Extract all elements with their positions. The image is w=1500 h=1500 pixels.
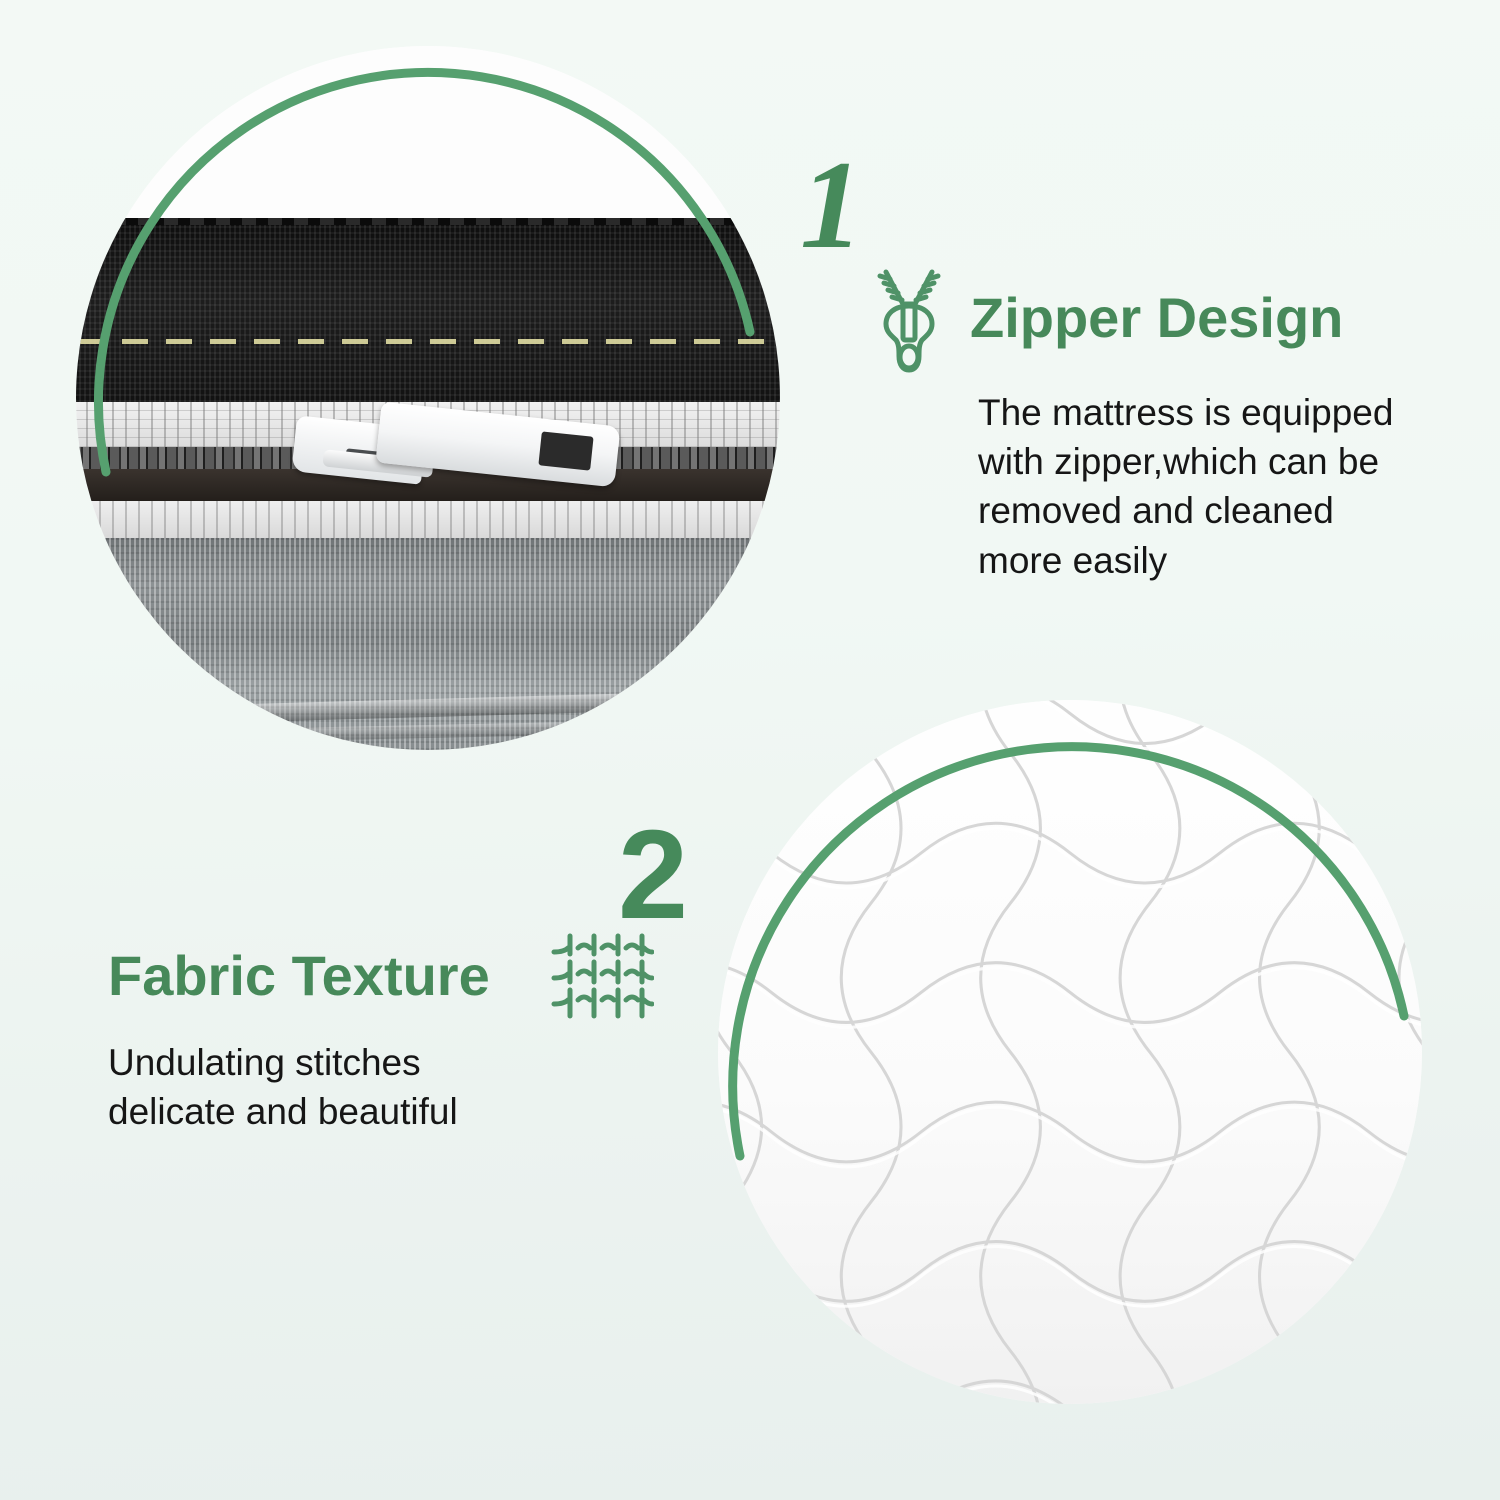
feature-1-body-line: with zipper,which can be — [978, 437, 1426, 486]
feature-number-1: 1 — [800, 143, 863, 269]
quilt-pattern — [718, 700, 1422, 1404]
woven-fabric-icon — [550, 930, 654, 1022]
zipper-slider-hole — [539, 431, 594, 470]
photo-band-zipper-tape-lower — [76, 501, 780, 538]
photo-band-white-top — [76, 46, 780, 218]
feature-1-body-line: The mattress is equipped — [978, 388, 1426, 437]
feature-2-heading-row: Fabric Texture — [108, 930, 708, 1022]
feature-2-title: Fabric Texture — [108, 946, 490, 1005]
feature-1-body-line: removed and cleaned — [978, 486, 1426, 535]
feature-block-fabric-texture: Fabric Texture — [108, 930, 708, 1136]
feature-2-body-line: Undulating stitches — [108, 1038, 708, 1087]
feature-2-body: Undulating stitches delicate and beautif… — [108, 1038, 708, 1136]
quilted-fabric-photo — [718, 700, 1422, 1404]
feature-1-body-line: more easily — [978, 536, 1426, 585]
infographic-stage: 1 2 Zipper Design The mattress is — [0, 0, 1500, 1500]
zipper-photo-bands — [76, 46, 780, 750]
photo-band-black-binding — [76, 218, 780, 401]
zipper-slider-pull — [294, 409, 618, 493]
feature-1-heading-row: Zipper Design — [866, 262, 1426, 374]
feature-1-title: Zipper Design — [970, 288, 1343, 347]
zipper-icon — [866, 262, 952, 374]
feature-2-body-line: delicate and beautiful — [108, 1087, 708, 1136]
photo-yellow-stitch-line — [76, 339, 780, 344]
photo-band-grey-knit — [76, 538, 780, 750]
feature-1-body: The mattress is equipped with zipper,whi… — [978, 388, 1426, 585]
zipper-closeup-photo — [76, 46, 780, 750]
feature-number-2: 2 — [618, 812, 688, 938]
feature-block-zipper-design: Zipper Design The mattress is equipped w… — [866, 262, 1426, 585]
